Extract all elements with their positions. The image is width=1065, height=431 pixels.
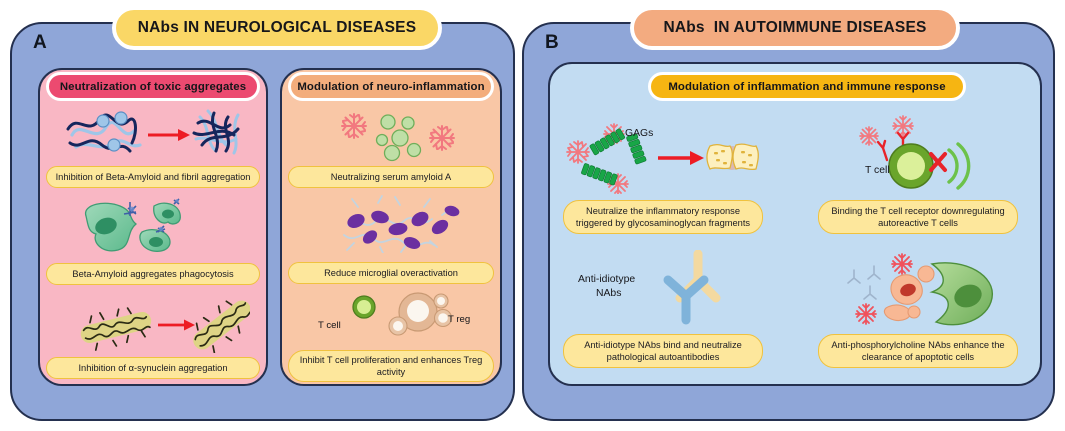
label-t-cell-a: T cell <box>318 320 341 331</box>
red-arrow-icon <box>148 129 190 141</box>
gag-fragments-illustration <box>560 112 760 194</box>
beta-amyloid-fibril-illustration <box>58 105 253 163</box>
red-arrow-icon <box>158 320 195 331</box>
alpha-synuclein-illustration <box>62 295 250 353</box>
red-arrow-icon <box>658 151 704 165</box>
apoptotic-cell-clearance-illustration <box>840 252 1010 332</box>
caption-anti-phosphorylcholine: Anti-phosphorylcholine NAbs enhance the … <box>818 334 1018 368</box>
anti-idiotype-antibody-illustration <box>640 250 750 325</box>
caption-reduce-microglial: Reduce microglial overactivation <box>288 262 494 284</box>
caption-binding-tcell-receptor: Binding the T cell receptor downregulati… <box>818 200 1018 234</box>
title-nabs-autoimmune: NAbs IN AUTOIMMUNE DISEASES <box>630 6 960 50</box>
label-t-reg: T reg <box>448 314 470 325</box>
caption-inhibit-tcell: Inhibit T cell proliferation and enhance… <box>288 350 494 382</box>
panel-a-letter: A <box>33 32 47 54</box>
title-nabs-neurological: NAbs IN NEUROLOGICAL DISEASES <box>112 6 442 50</box>
microglia-phagocytosis-illustration <box>80 198 230 258</box>
label-anti-idiotype: Anti-idiotype <box>578 274 635 285</box>
caption-beta-amyloid: Inhibition of Beta-Amyloid and fibril ag… <box>46 166 260 188</box>
panel-b-letter: B <box>545 32 559 54</box>
figure-root: A Inhi <box>0 0 1065 431</box>
subheader-modulation-inflammation: Modulation of inflammation and immune re… <box>648 72 966 101</box>
label-gags: GAGs <box>625 128 653 139</box>
tcell-receptor-blockade-illustration <box>845 112 1005 190</box>
activated-microglia-illustration <box>334 195 470 253</box>
serum-amyloid-a-illustration <box>330 108 470 162</box>
caption-serum-amyloid-a: Neutralizing serum amyloid A <box>288 166 494 188</box>
label-nabs: NAbs <box>596 288 621 299</box>
caption-anti-idiotype: Anti-idiotype NAbs bind and neutralize p… <box>563 334 763 368</box>
caption-alpha-synuclein: Inhibition of α-synuclein aggregation <box>46 357 260 379</box>
label-t-cell-b: T cell <box>865 165 890 176</box>
caption-phagocytosis: Beta-Amyloid aggregates phagocytosis <box>46 263 260 285</box>
subheader-neuroinflammation: Modulation of neuro-inflammation <box>288 72 494 101</box>
caption-neutralize-gag: Neutralize the inflammatory response tri… <box>563 200 763 234</box>
subheader-neutralization: Neutralization of toxic aggregates <box>46 72 260 101</box>
